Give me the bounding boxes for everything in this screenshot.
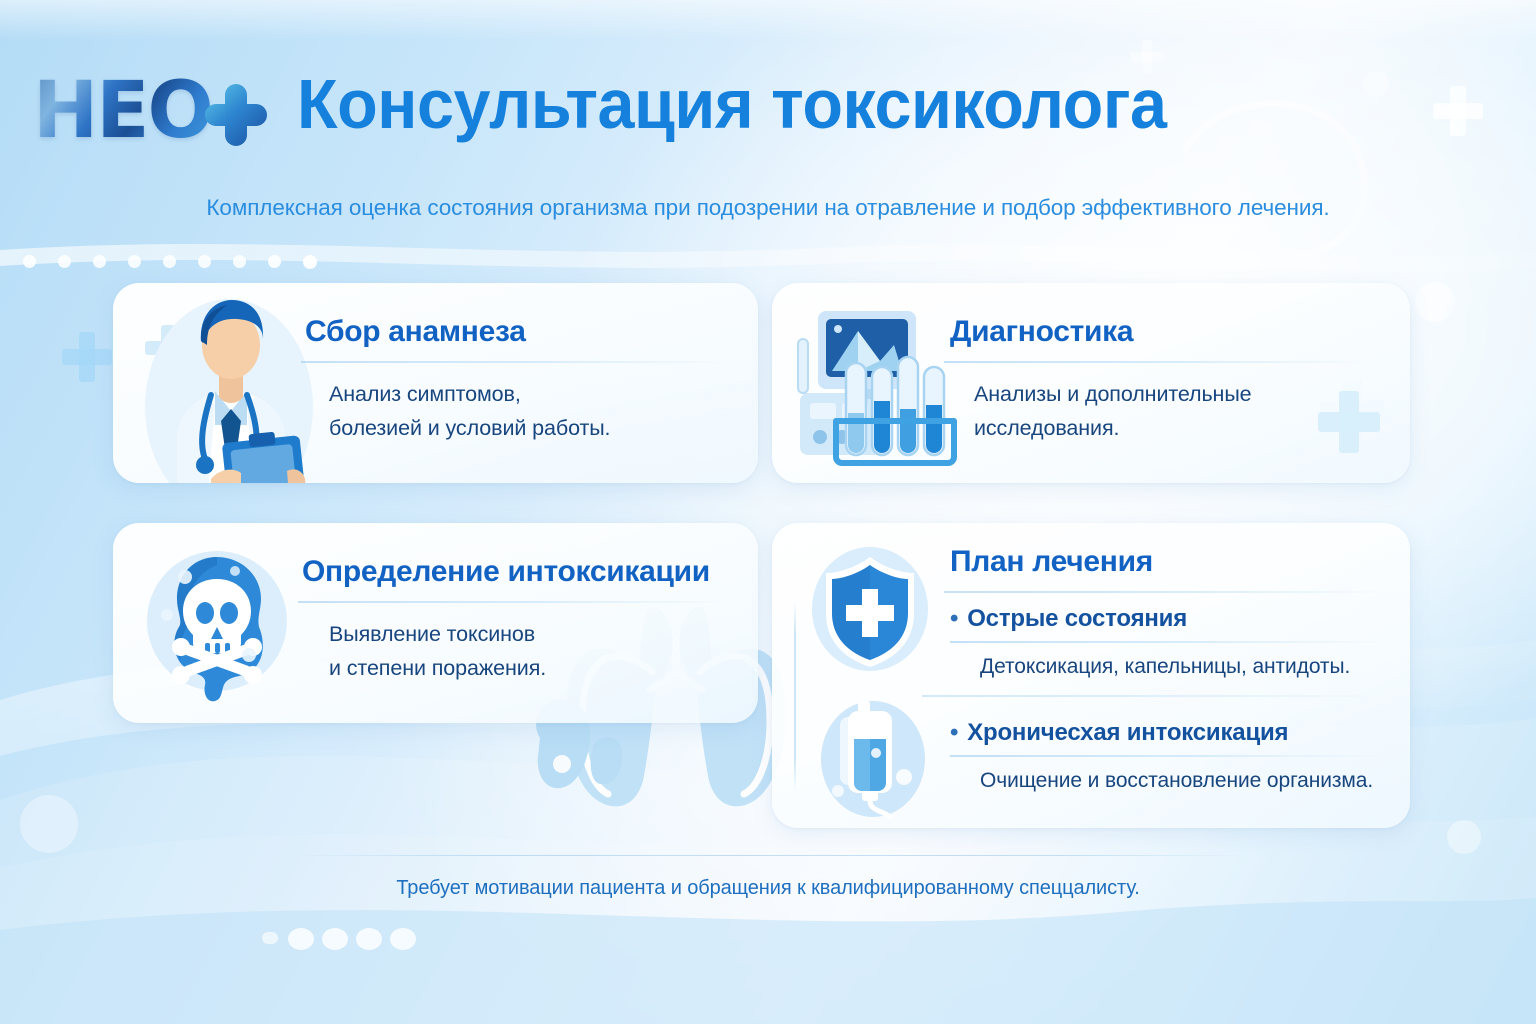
plan-item-label: •Острые состояния [950, 605, 1187, 633]
plan-divider [950, 755, 1378, 757]
card-title-treatment-plan: План лечения [950, 545, 1153, 579]
shield-cross-icon [810, 545, 930, 675]
plan-item-description: Детоксикация, капельницы, антидоты. [980, 655, 1350, 679]
bullet-icon: • [950, 719, 958, 746]
card-body-intoxication: Выявление токсинов и степени поражения. [329, 617, 729, 686]
infographic-canvas: HEO Консультация токсиколога Комплексная… [0, 0, 1536, 1024]
card-body-line: Анализы и дополнительные [974, 377, 1394, 411]
card-body-line: болезией и условий работы. [329, 411, 739, 445]
card-title-intoxication: Определение интоксикации [302, 555, 710, 589]
card-intoxication[interactable]: Определение интоксикации Выявление токси… [113, 523, 758, 723]
plan-divider [950, 641, 1378, 643]
circle-decor [1447, 820, 1481, 854]
plan-item-chronic[interactable]: •Хроничесхая интоксикация [950, 719, 1288, 747]
footer-divider [290, 855, 1246, 856]
card-body-anamnesis: Анализ симптомов, болезией и условий раб… [329, 377, 739, 446]
card-body-line: Выявление токсинов [329, 617, 729, 651]
card-title-diagnostic: Диагностика [950, 315, 1133, 349]
circle-decor [20, 795, 78, 853]
plus-decor-icon [145, 325, 191, 371]
plan-item-description: Очищение и восстановление организма. [980, 769, 1373, 793]
brand-logo[interactable]: HEO [33, 72, 212, 150]
card-title-anamnesis: Сбор анамнеза [305, 315, 526, 349]
doctor-with-clipboard-icon [137, 287, 327, 483]
bullet-icon: • [950, 605, 958, 632]
circle-decor [1415, 282, 1455, 322]
card-body-diagnostic: Анализы и дополнительные исследования. [974, 377, 1394, 446]
card-anamnesis[interactable]: Сбор анамнеза Анализ симптомов, болезией… [113, 283, 758, 483]
skull-crossbones-toxic-icon [137, 543, 297, 708]
plan-item-chronic-desc-wrap: Очищение и восстановление организма. [980, 769, 1373, 793]
iv-drip-bag-icon [818, 695, 928, 820]
lab-equipment-test-tubes-icon [784, 305, 974, 475]
page-title: Консультация токсиколога [297, 64, 1167, 144]
footer-note: Требует мотивации пациента и обращения к… [0, 877, 1536, 900]
page-subtitle: Комплексная оценка состояния организма п… [0, 195, 1536, 221]
card-divider [298, 601, 718, 603]
card-treatment-plan[interactable]: План лечения •Острые состояния Детоксика… [772, 523, 1410, 828]
plus-decor-icon [62, 332, 112, 382]
card-body-line: и степени поражения. [329, 651, 729, 685]
plus-icon [205, 84, 267, 146]
plan-item-acute[interactable]: •Острые состояния [950, 605, 1187, 633]
card-divider [944, 361, 1364, 363]
plan-left-rail [794, 601, 796, 791]
header: HEO Консультация токсиколога Комплексная… [0, 0, 1536, 250]
card-diagnostic[interactable]: Диагностика Анализы и дополнительные исс… [772, 283, 1410, 483]
card-divider [301, 361, 721, 363]
plan-item-label: •Хроничесхая интоксикация [950, 719, 1288, 747]
card-divider [944, 591, 1384, 593]
plan-item-acute-desc-wrap: Детоксикация, капельницы, антидоты. [980, 655, 1350, 679]
card-body-line: исследования. [974, 411, 1394, 445]
card-body-line: Анализ симптомов, [329, 377, 739, 411]
plan-section-divider [922, 695, 1378, 697]
